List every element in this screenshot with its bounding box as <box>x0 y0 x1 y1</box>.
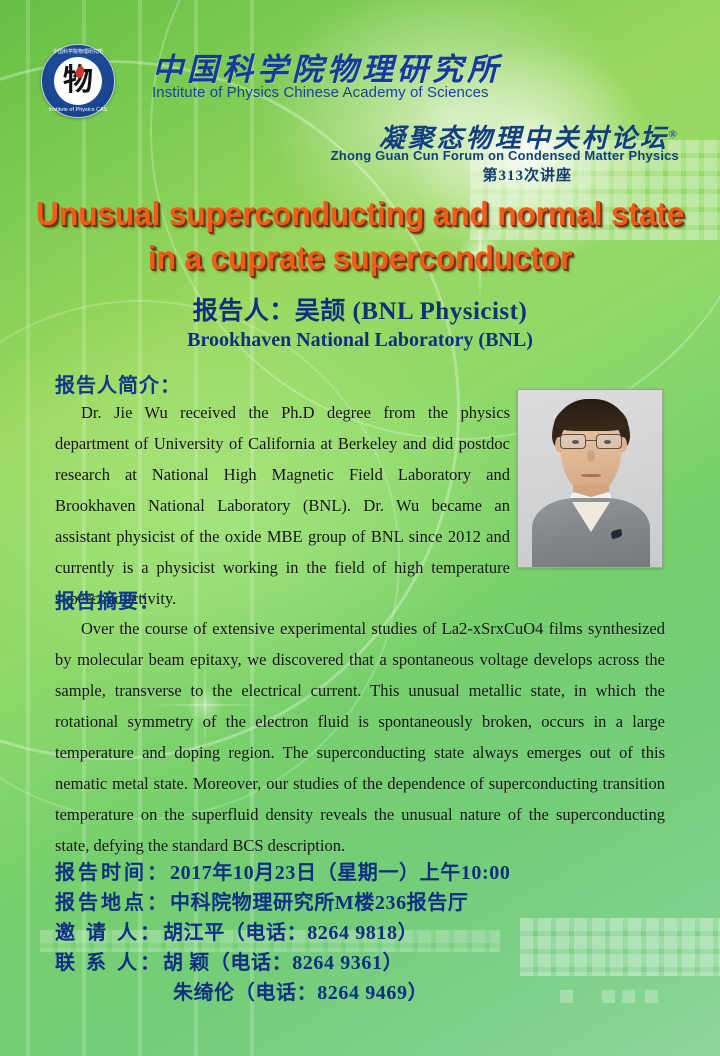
speaker-portrait-photo <box>517 389 663 568</box>
logo-ring-top-label: 中国科学院物理研究所 <box>41 48 115 55</box>
detail-row-contact-2: 朱绮伦（电话：8264 9469） <box>55 978 665 1008</box>
seminar-poster: 中国科学院物理研究所 物 Institute of Physics CAS 中国… <box>0 0 720 1056</box>
detail-row-location: 报告地点：中科院物理研究所M楼236报告厅 <box>55 888 665 918</box>
portrait-lens-left <box>560 434 586 449</box>
logo-ring-bottom-label: Institute of Physics CAS <box>41 107 115 113</box>
institute-logo-icon: 中国科学院物理研究所 物 Institute of Physics CAS <box>41 44 115 118</box>
institute-name-en: Institute of Physics Chinese Academy of … <box>152 84 489 101</box>
registered-mark-icon: ® <box>669 128 680 140</box>
title-line-2: in a cuprate superconductor <box>11 236 709 280</box>
portrait-mouth <box>581 474 601 477</box>
bio-body-text: Dr. Jie Wu received the Ph.D degree from… <box>55 397 510 614</box>
speaker-name: 报告人：吴颉 (BNL Physicist) <box>0 291 720 327</box>
detail-row-time: 报告时间：2017年10月23日（星期一）上午10:00 <box>55 858 665 888</box>
poster-header: 中国科学院物理研究所 物 Institute of Physics CAS 中国… <box>0 0 720 115</box>
detail-row-inviter: 邀 请 人：胡江平（电话：8264 9818） <box>55 918 665 948</box>
detail-value: 朱绮伦（电话：8264 9469） <box>173 982 428 1004</box>
detail-label: 报告时间： <box>55 862 170 884</box>
detail-value: 中科院物理研究所M楼236报告厅 <box>170 892 468 914</box>
lecture-number: 第313次讲座 <box>482 164 572 185</box>
bio-section-heading: 报告人简介： <box>55 369 181 398</box>
portrait-glasses-icon <box>559 434 623 449</box>
detail-label: 联 系 人： <box>55 952 163 974</box>
detail-value: 胡 颖（电话：8264 9361） <box>163 952 403 974</box>
detail-label: 报告地点： <box>55 892 170 914</box>
abstract-body-text: Over the course of extensive experimenta… <box>55 613 665 861</box>
logo-inner-disc: 物 <box>54 57 102 105</box>
title-line-1: Unusual superconducting and normal state <box>11 192 709 236</box>
abstract-section-heading: 报告摘要： <box>55 585 160 614</box>
detail-value: 胡江平（电话：8264 9818） <box>163 922 418 944</box>
detail-label: 邀 请 人： <box>55 922 163 944</box>
institute-name-cn: 中国科学院物理研究所 <box>152 44 502 89</box>
speaker-affiliation: Brookhaven National Laboratory (BNL) <box>0 329 720 352</box>
detail-row-contact-1: 联 系 人：胡 颖（电话：8264 9361） <box>55 948 665 978</box>
portrait-nose <box>587 450 595 462</box>
detail-value: 2017年10月23日（星期一）上午10:00 <box>170 862 510 884</box>
portrait-lens-right <box>596 434 622 449</box>
event-details: 报告时间：2017年10月23日（星期一）上午10:00 报告地点：中科院物理研… <box>55 858 665 1008</box>
page-title: Unusual superconducting and normal state… <box>11 192 709 279</box>
forum-name-en: Zhong Guan Cun Forum on Condensed Matter… <box>331 148 679 163</box>
